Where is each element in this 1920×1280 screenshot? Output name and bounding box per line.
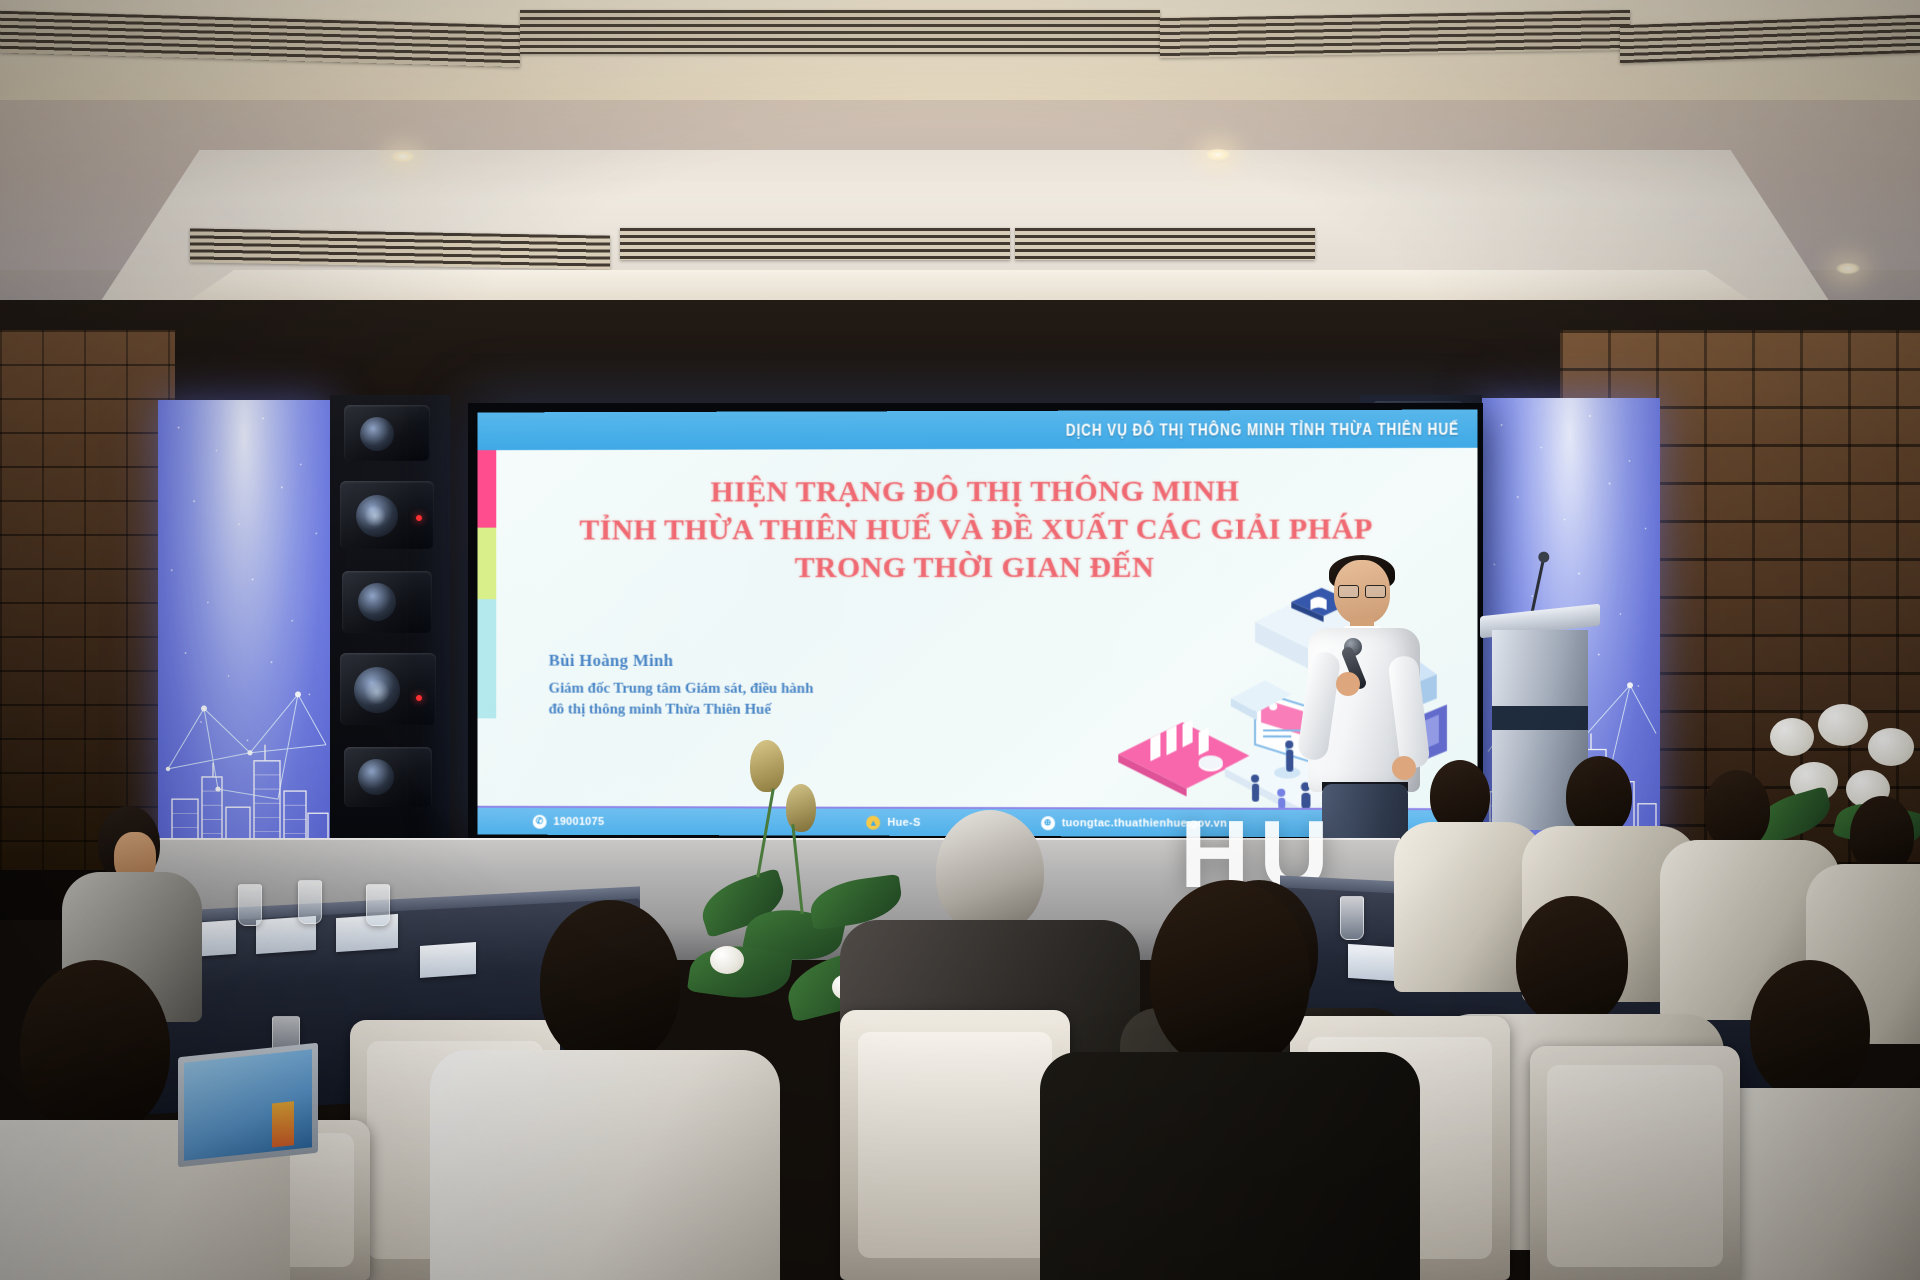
wood-wall-panel-left xyxy=(0,330,175,870)
downlight-icon xyxy=(1835,262,1861,275)
attendee-head xyxy=(1516,896,1628,1026)
flower-stem xyxy=(756,788,775,877)
slide-header-banner: DỊCH VỤ ĐÔ THỊ THÔNG MINH TỈNH THỪA THIÊ… xyxy=(477,410,1477,451)
led-panel-left xyxy=(158,400,330,860)
attendee-torso xyxy=(430,1050,780,1280)
footer-phone: ✆ 19001075 xyxy=(533,814,605,828)
attendee-head xyxy=(1704,770,1770,850)
attendee-head xyxy=(1850,796,1914,874)
speaker-role-line-2: đô thị thông minh Thừa Thiên Huế xyxy=(549,700,814,722)
banquet-chair xyxy=(840,1010,1070,1280)
slide-title-line-2: TỈNH THỪA THIÊN HUẾ VÀ ĐỀ XUẤT CÁC GIẢI … xyxy=(517,510,1437,549)
status-led-icon xyxy=(416,695,422,701)
light-glow xyxy=(364,505,386,527)
attendee-head xyxy=(1750,960,1870,1100)
attendee-head xyxy=(20,960,170,1136)
status-led-icon xyxy=(416,515,422,521)
air-vent-icon xyxy=(1160,10,1630,58)
slide-speaker-block: Bùi Hoàng Minh Giám đốc Trung tâm Giám s… xyxy=(549,651,814,722)
attendee-torso xyxy=(1040,1052,1420,1280)
lotus-bud-icon xyxy=(750,740,784,792)
speaker-role-line-1: Giám đốc Trung tâm Giám sát, điều hành xyxy=(549,679,814,700)
banquet-chair xyxy=(1530,1046,1740,1280)
stage-light-lens-icon xyxy=(360,417,394,451)
flower-stem xyxy=(791,824,803,914)
attendee-head xyxy=(1150,880,1310,1070)
ceiling xyxy=(0,0,1920,330)
laptop[interactable] xyxy=(178,1043,318,1168)
light-glow xyxy=(364,679,390,705)
air-vent-icon xyxy=(520,10,1160,54)
presenter-hand-left xyxy=(1336,672,1360,696)
water-glass xyxy=(238,884,262,926)
light-truss-left xyxy=(330,395,450,865)
air-vent-icon xyxy=(1015,228,1315,260)
downlight-icon xyxy=(1205,148,1231,161)
accent-bar-lime xyxy=(477,528,496,600)
downlight-icon xyxy=(390,150,416,163)
laptop-screen-content xyxy=(272,1101,294,1147)
white-flower-icon xyxy=(1868,728,1914,766)
water-glass xyxy=(366,884,390,926)
white-flower-icon xyxy=(1818,704,1868,746)
air-vent-icon xyxy=(620,228,1010,260)
phone-icon: ✆ xyxy=(533,814,547,828)
attendee-head xyxy=(1566,756,1632,836)
stage-light-lens-icon xyxy=(358,759,394,795)
attendee-head xyxy=(540,900,680,1066)
attendee-foreground xyxy=(1060,880,1390,1280)
accent-bar-pink xyxy=(477,450,496,528)
slide-title: HIỆN TRẠNG ĐÔ THỊ THÔNG MINH TỈNH THỪA T… xyxy=(517,472,1437,587)
water-glass xyxy=(298,880,322,924)
speaker-name: Bùi Hoàng Minh xyxy=(549,651,814,671)
stage-light-lens-icon xyxy=(358,583,396,621)
conference-hall-photo: DỊCH VỤ ĐÔ THỊ THÔNG MINH TỈNH THỪA THIÊ… xyxy=(0,0,1920,1280)
white-flower-icon xyxy=(1770,718,1814,756)
slide-title-line-1: HIỆN TRẠNG ĐÔ THỊ THÔNG MINH xyxy=(517,472,1437,511)
attendee-head-grey-hair xyxy=(936,810,1044,934)
eyeglasses-icon xyxy=(1338,585,1386,596)
footer-phone-text: 19001075 xyxy=(554,815,605,827)
slide-header-text: DỊCH VỤ ĐÔ THỊ THÔNG MINH TỈNH THỪA THIÊ… xyxy=(1066,420,1477,439)
speaker-role: Giám đốc Trung tâm Giám sát, điều hành đ… xyxy=(549,679,814,722)
lectern-band xyxy=(1492,706,1588,730)
attendee-foreground xyxy=(430,900,760,1280)
accent-bar-teal xyxy=(477,599,496,718)
